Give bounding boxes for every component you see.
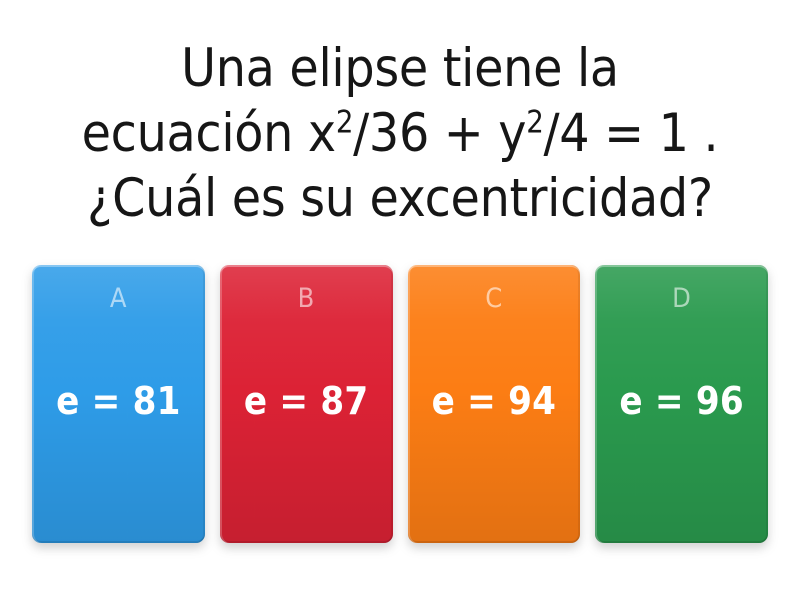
answer-card-b[interactable]: B e = 87 bbox=[220, 265, 393, 543]
answer-options-grid: A e = 81 B e = 87 C e = 94 D e = 96 bbox=[32, 265, 768, 545]
answer-card-a-surface bbox=[32, 265, 205, 543]
answer-card-d-surface bbox=[595, 265, 768, 543]
question-text: Una elipse tiene laecuación x2/36 + y2/4… bbox=[14, 36, 786, 231]
question-area: Una elipse tiene laecuación x2/36 + y2/4… bbox=[0, 36, 800, 231]
answer-card-b-surface bbox=[220, 265, 393, 543]
answer-card-c[interactable]: C e = 94 bbox=[408, 265, 581, 543]
quiz-screen: Una elipse tiene laecuación x2/36 + y2/4… bbox=[0, 0, 800, 600]
answer-card-d[interactable]: D e = 96 bbox=[595, 265, 768, 543]
answer-card-c-surface bbox=[408, 265, 581, 543]
answer-card-a[interactable]: A e = 81 bbox=[32, 265, 205, 543]
